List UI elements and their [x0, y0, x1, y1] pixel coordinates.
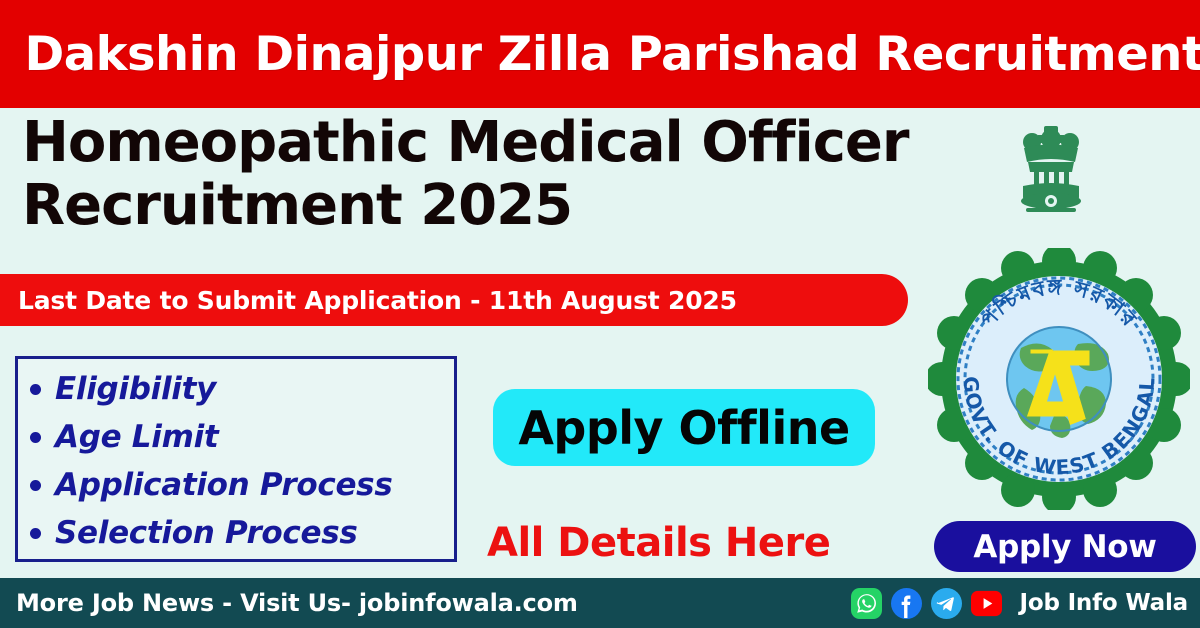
apply-offline-label: Apply Offline — [518, 401, 849, 455]
list-item-label: Age Limit — [55, 422, 218, 453]
bullet-dot-icon — [30, 432, 41, 443]
list-item: Selection Process — [30, 509, 454, 557]
recruitment-poster: Dakshin Dinajpur Zilla Parishad Recruitm… — [0, 0, 1200, 628]
page-title-line-1: Homeopathic Medical Officer — [22, 112, 982, 175]
apply-offline-button[interactable]: Apply Offline — [493, 389, 875, 466]
facebook-icon[interactable] — [891, 588, 922, 619]
highlights-box: Eligibility Age Limit Application Proces… — [15, 356, 457, 562]
last-date-text: Last Date to Submit Application - 11th A… — [0, 286, 737, 315]
bullet-dot-icon — [30, 528, 41, 539]
bullet-dot-icon — [30, 480, 41, 491]
list-item-label: Application Process — [55, 470, 392, 501]
apply-now-label: Apply Now — [973, 529, 1156, 565]
whatsapp-icon[interactable] — [851, 588, 882, 619]
bullet-dot-icon — [30, 384, 41, 395]
list-item: Eligibility — [30, 365, 454, 413]
list-item: Age Limit — [30, 413, 454, 461]
top-banner: Dakshin Dinajpur Zilla Parishad Recruitm… — [0, 0, 1200, 108]
footer-bar: More Job News - Visit Us- jobinfowala.co… — [0, 578, 1200, 628]
footer-text: More Job News - Visit Us- jobinfowala.co… — [0, 589, 578, 617]
telegram-icon[interactable] — [931, 588, 962, 619]
youtube-icon[interactable] — [971, 588, 1002, 619]
last-date-banner: Last Date to Submit Application - 11th A… — [0, 274, 908, 326]
ashoka-lion-capital-emblem — [1008, 112, 1094, 212]
banner-title: Dakshin Dinajpur Zilla Parishad Recruitm… — [0, 31, 1200, 78]
apply-now-button[interactable]: Apply Now — [934, 521, 1196, 572]
page-title-line-2: Recruitment 2025 — [22, 175, 982, 238]
all-details-here-text: All Details Here — [487, 520, 830, 566]
list-item-label: Selection Process — [55, 518, 358, 549]
page-title: Homeopathic Medical Officer Recruitment … — [22, 112, 982, 237]
list-item-label: Eligibility — [55, 374, 216, 405]
footer-social-group: Job Info Wala — [851, 578, 1194, 628]
brand-name: Job Info Wala — [1020, 590, 1188, 616]
govt-of-west-bengal-seal: পশ্চিমবঙ্গ সরকার GOVT. OF WEST BENGAL — [928, 248, 1190, 510]
list-item: Application Process — [30, 461, 454, 509]
